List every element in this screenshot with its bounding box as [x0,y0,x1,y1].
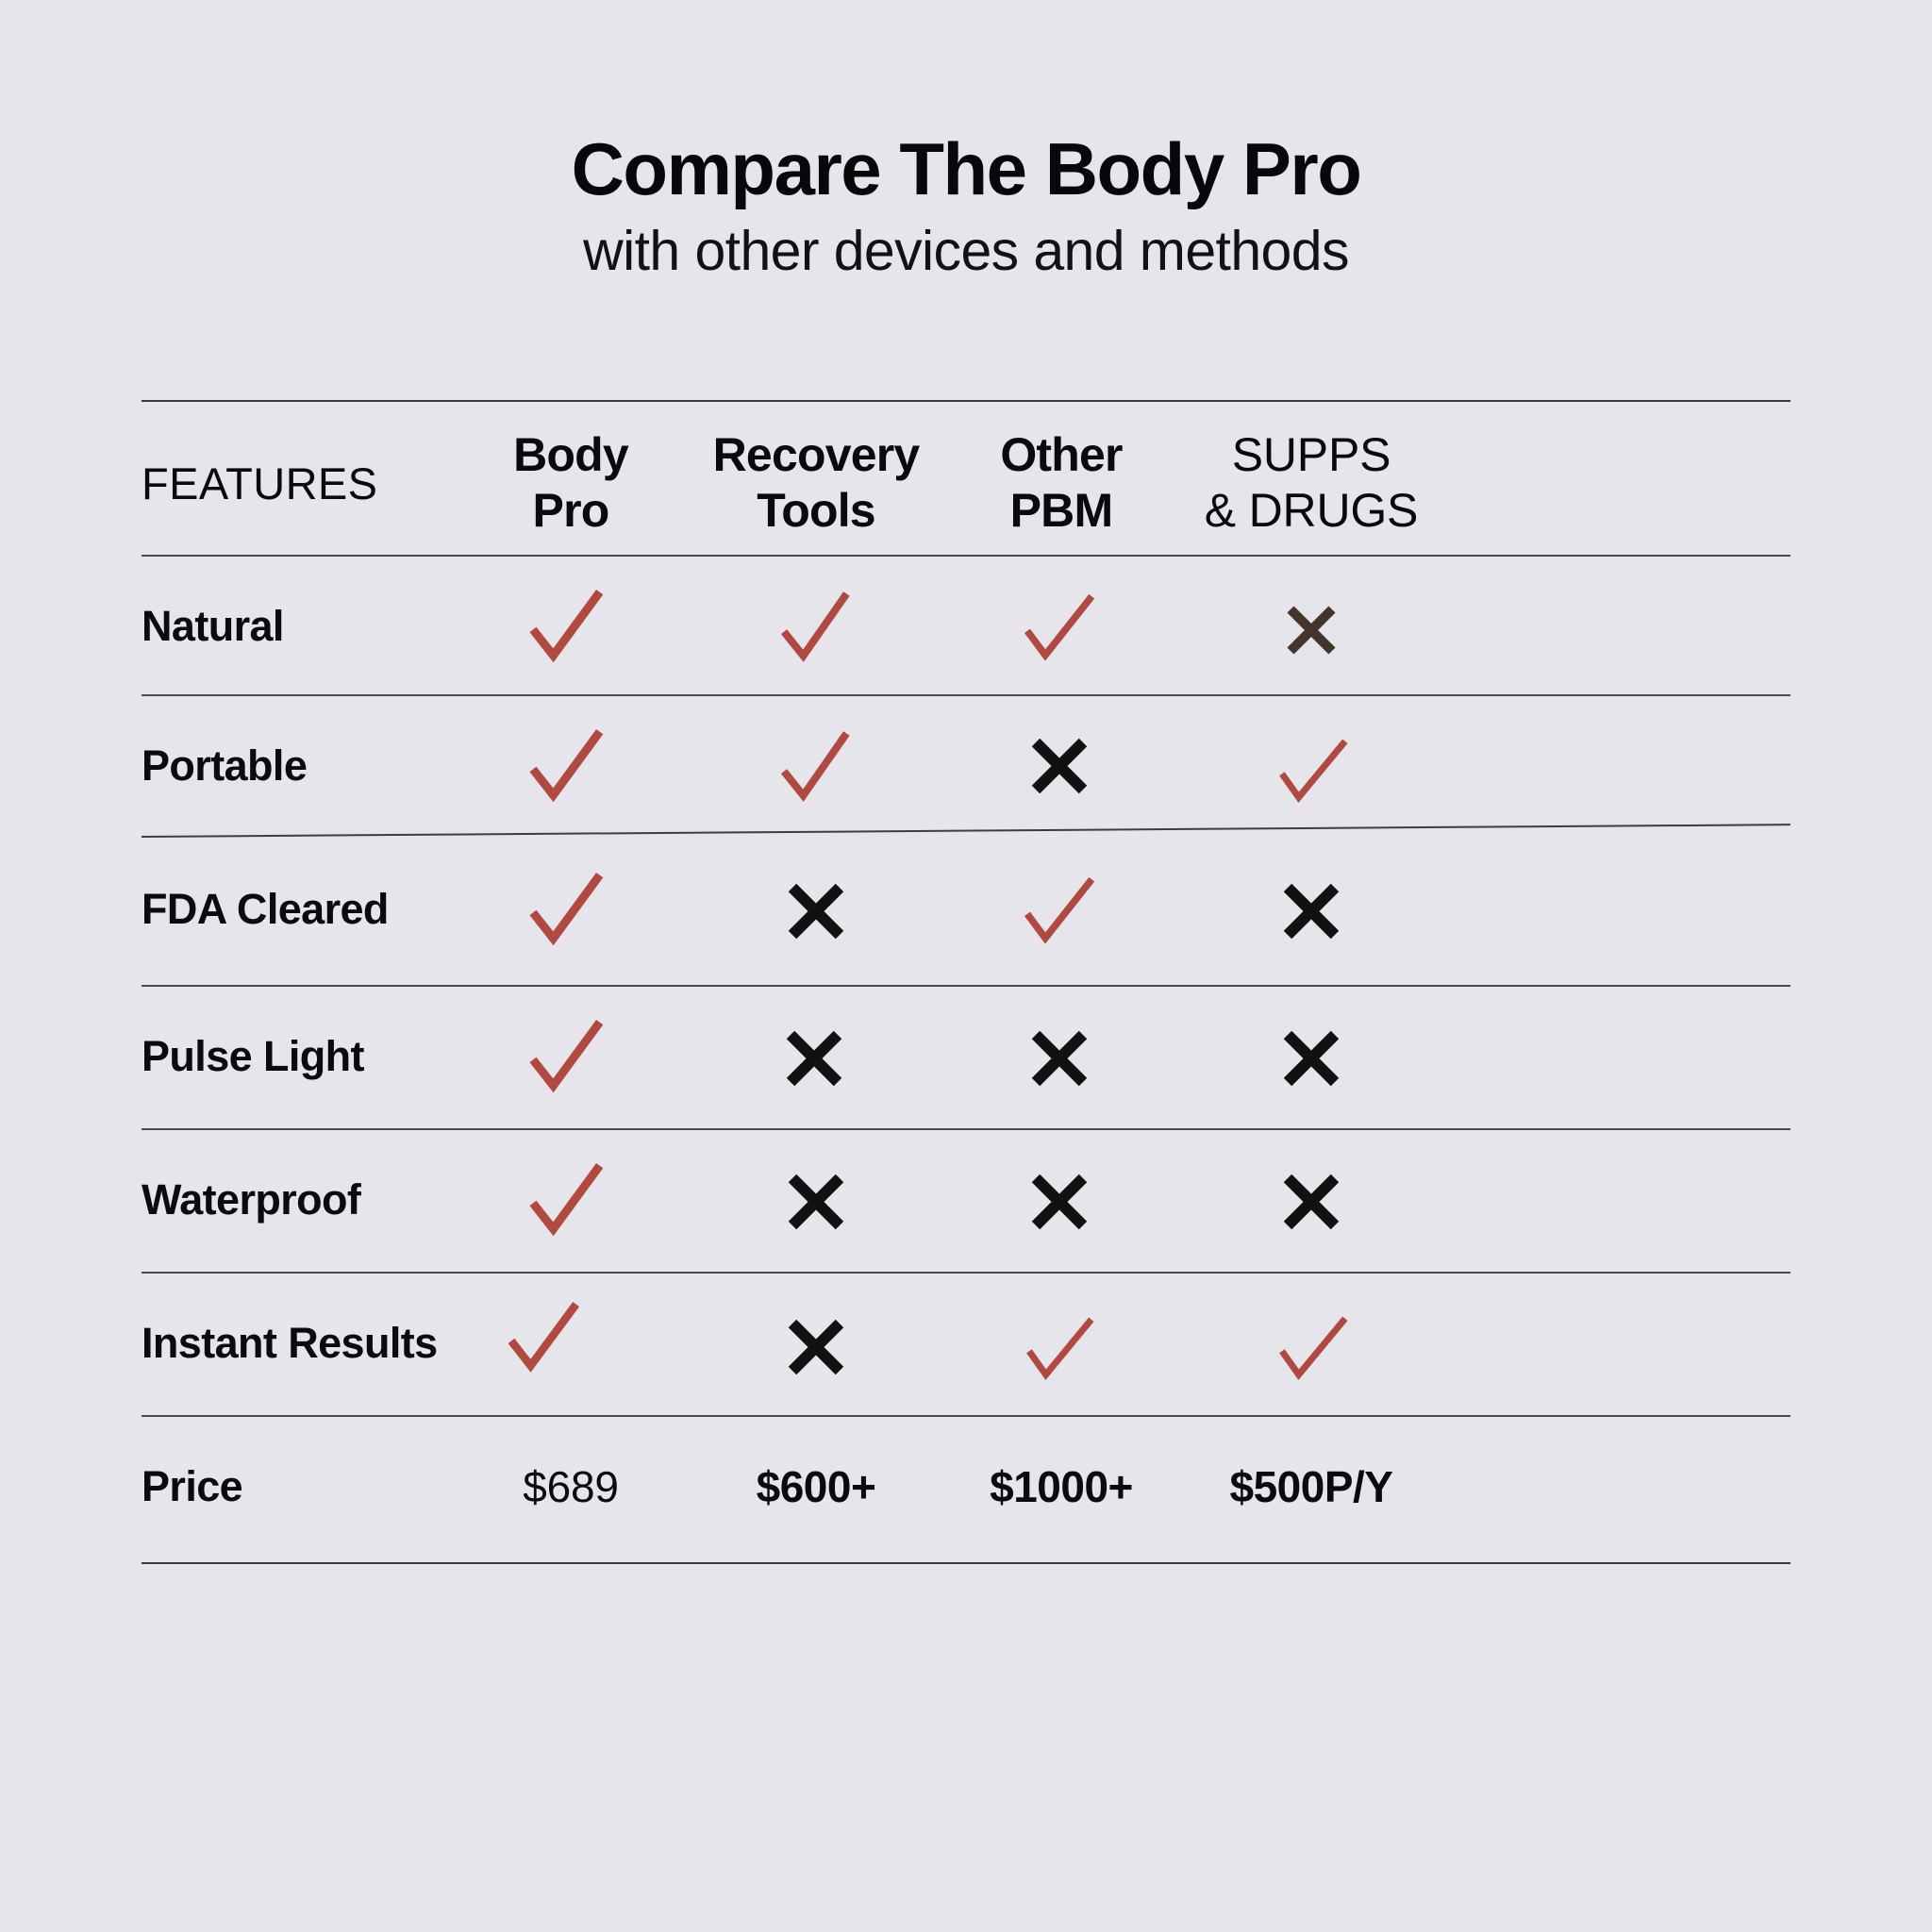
table-row: Natural [142,560,1790,692]
column-header-body-pro-line1: Body [513,427,628,483]
cell-pulse-recovery-tools [689,991,943,1123]
cell-portable-recovery-tools [689,700,943,832]
check-icon [776,728,855,808]
cell-pulse-supps-drugs [1179,991,1443,1123]
feature-label-natural: Natural [142,560,453,692]
cell-pulse-other-pbm [943,991,1179,1123]
check-icon [1021,874,1099,954]
column-header-features: FEATURES [142,413,453,553]
cell-instant-other-pbm [943,1277,1179,1409]
feature-label-fda-cleared: FDA Cleared [142,843,453,975]
feature-label-portable: Portable [142,700,453,832]
table-rule-header [142,555,1790,557]
price-value-other-pbm: $1000+ [990,1461,1133,1512]
cell-fda-supps-drugs [1179,843,1443,975]
check-icon [1021,591,1099,671]
column-header-other-pbm: Other PBM [943,413,1179,553]
cell-pulse-body-pro [453,991,689,1123]
table-rule-top [142,400,1790,402]
table-rule-bottom [142,1562,1790,1564]
comparison-table-page: Compare The Body Pro with other devices … [0,0,1932,1932]
check-icon [504,1298,584,1380]
feature-label-pulse-light: Pulse Light [142,991,453,1123]
cell-portable-other-pbm [943,700,1179,832]
column-header-body-pro: Body Pro [453,413,689,553]
column-header-supps-drugs-line1: SUPPS [1205,427,1418,483]
check-icon [525,724,609,811]
check-icon [525,585,609,672]
table-header-row: FEATURES Body Pro Recovery Tools Other P… [142,413,1790,553]
close-icon [1285,604,1338,657]
table-row: Price $689 $600+ $1000+ $500P/Y [142,1421,1790,1553]
cell-fda-other-pbm [943,843,1179,975]
column-header-recovery-tools-line2: Tools [713,483,920,539]
page-title: Compare The Body Pro [0,132,1932,208]
check-icon [1022,1312,1097,1390]
cell-fda-body-pro [453,843,689,975]
column-header-other-pbm-line2: PBM [1000,483,1122,539]
close-icon [1029,1172,1090,1232]
column-header-supps-drugs: SUPPS & DRUGS [1179,413,1443,553]
cell-natural-recovery-tools [689,560,943,692]
close-icon [784,1028,844,1089]
table-rule-6 [142,1415,1790,1417]
cell-price-recovery-tools: $600+ [689,1421,943,1553]
table-rule-3 [142,985,1790,987]
close-icon [1029,736,1090,796]
feature-label-instant-results: Instant Results [142,1277,453,1409]
check-icon [1274,1311,1352,1391]
column-header-body-pro-line2: Pro [513,483,628,539]
table-row: Pulse Light [142,991,1790,1123]
check-icon [776,589,855,669]
cell-instant-body-pro [453,1277,689,1409]
cell-natural-body-pro [453,560,689,692]
cell-waterproof-recovery-tools [689,1134,943,1266]
cell-price-supps-drugs: $500P/Y [1179,1421,1443,1553]
table-row: FDA Cleared [142,843,1790,975]
cell-instant-supps-drugs [1179,1277,1443,1409]
cell-portable-body-pro [453,700,689,832]
table-row: Instant Results [142,1277,1790,1409]
cell-portable-supps-drugs [1179,700,1443,832]
check-icon [525,868,609,955]
check-icon [525,1015,609,1102]
close-icon [1281,1028,1341,1089]
cell-instant-recovery-tools [689,1277,943,1409]
column-header-supps-drugs-line2: & DRUGS [1205,483,1418,539]
column-header-recovery-tools-line1: Recovery [713,427,920,483]
cell-natural-other-pbm [943,560,1179,692]
cell-natural-supps-drugs [1179,560,1443,692]
page-subtitle: with other devices and methods [0,221,1932,282]
column-header-recovery-tools: Recovery Tools [689,413,943,553]
table-row: Portable [142,700,1790,832]
table-row: Waterproof [142,1134,1790,1266]
cell-waterproof-body-pro [453,1134,689,1266]
cell-waterproof-other-pbm [943,1134,1179,1266]
price-value-recovery-tools: $600+ [757,1461,876,1512]
cell-price-body-pro: $689 [453,1421,689,1553]
cell-fda-recovery-tools [689,843,943,975]
feature-label-price: Price [142,1421,453,1553]
close-icon [1029,1028,1090,1089]
price-value-supps-drugs: $500P/Y [1230,1461,1393,1512]
check-icon [1274,734,1352,813]
cell-price-other-pbm: $1000+ [943,1421,1179,1553]
table-rule-5 [142,1272,1790,1274]
page-header: Compare The Body Pro with other devices … [0,132,1932,281]
close-icon [1281,881,1341,941]
check-icon [525,1158,609,1245]
feature-label-waterproof: Waterproof [142,1134,453,1266]
column-header-other-pbm-line1: Other [1000,427,1122,483]
close-icon [786,881,846,941]
close-icon [1281,1172,1341,1232]
close-icon [786,1172,846,1232]
table-rule-1 [142,694,1790,696]
cell-waterproof-supps-drugs [1179,1134,1443,1266]
price-value-body-pro: $689 [523,1461,619,1512]
close-icon [786,1317,846,1377]
table-rule-4 [142,1128,1790,1130]
